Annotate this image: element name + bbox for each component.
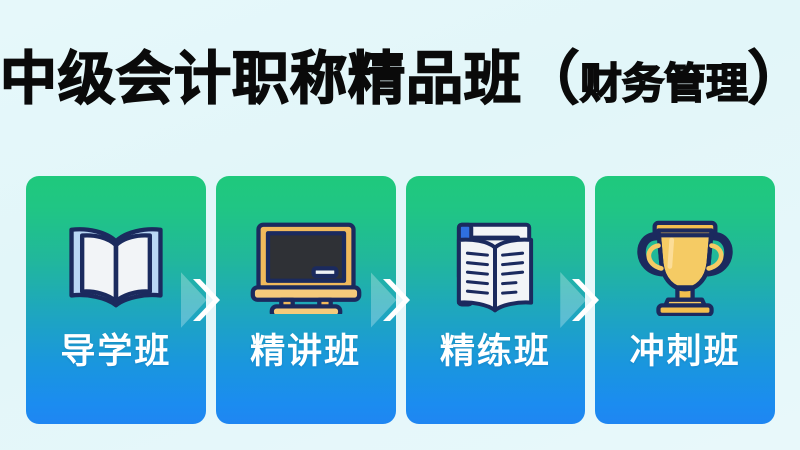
arrow-triangle-fill-3	[560, 272, 586, 328]
arrow-triangle-fill-1	[181, 272, 207, 328]
page-title: 中级会计职称精品班（财务管理）	[0, 46, 800, 117]
title-text: 中级会计职称精品班（财务管理）	[0, 46, 800, 117]
title-paren-open: （	[522, 47, 580, 111]
stage-card-label: 精讲班	[250, 332, 361, 372]
course-banner: 中级会计职称精品班（财务管理） 导学班	[0, 0, 800, 450]
notebook-icon	[435, 218, 555, 314]
stage-card-label: 精练班	[440, 332, 551, 372]
title-subject: 财务管理	[580, 60, 748, 107]
stage-card-jingjiang[interactable]: 精讲班	[216, 176, 396, 424]
stage-card-label: 冲刺班	[630, 332, 741, 372]
course-stage-list: 导学班	[26, 176, 775, 424]
title-paren-close: ）	[748, 47, 800, 111]
trophy-icon	[625, 218, 745, 314]
arrow-triangle-fill-2	[371, 272, 397, 328]
stage-card-daoxue[interactable]: 导学班	[26, 176, 206, 424]
title-main: 中级会计职称精品班	[0, 47, 522, 111]
open-book-icon	[56, 218, 176, 314]
blackboard-icon	[246, 218, 366, 314]
stage-card-jinglian[interactable]: 精练班	[406, 176, 586, 424]
stage-card-label: 导学班	[60, 332, 171, 372]
stage-card-chongci[interactable]: 冲刺班	[595, 176, 775, 424]
